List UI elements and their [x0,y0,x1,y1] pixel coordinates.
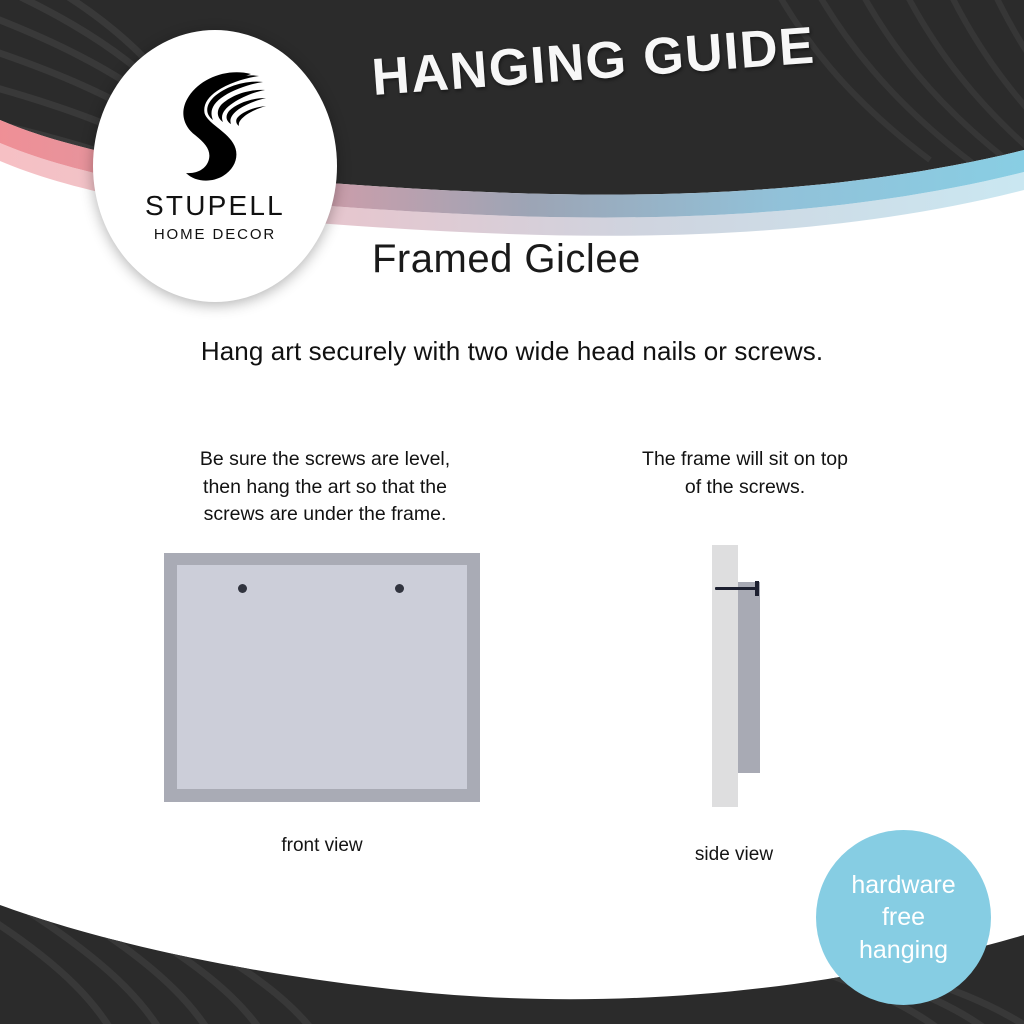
hanging-guide-page: STUPELL HOME DECOR HANGING GUIDE Framed … [0,0,1024,1024]
screw-dot-right-icon [395,584,404,593]
side-view-caption: The frame will sit on top of the screws. [600,446,890,501]
badge-line-3: hanging [859,934,948,967]
frame-profile [738,582,760,773]
side-view-caption-line-1: The frame will sit on top [600,446,890,474]
badge-line-2: free [882,901,925,934]
stupell-swan-logo-icon [155,56,275,188]
logo-brand-tagline: HOME DECOR [154,227,276,242]
side-view-label: side view [644,844,824,866]
badge-line-1: hardware [851,869,955,902]
front-view-label: front view [212,835,432,857]
nail-shaft-icon [715,587,759,590]
wall-surface [712,545,738,807]
screw-dot-left-icon [238,584,247,593]
frame-artwork-area [177,565,467,789]
front-view-caption: Be sure the screws are level, then hang … [160,446,490,529]
page-title: HANGING GUIDE [370,10,893,108]
hardware-free-hanging-badge: hardware free hanging [816,830,991,1005]
logo-brand-name: STUPELL [145,192,285,220]
side-view-caption-line-2: of the screws. [600,474,890,502]
side-view-diagram [712,545,776,807]
nail-head-icon [755,581,759,596]
main-instruction-text: Hang art securely with two wide head nai… [0,336,1024,367]
brand-logo-badge: STUPELL HOME DECOR [93,30,337,302]
front-view-diagram [164,553,480,802]
product-type-heading: Framed Giclee [372,237,641,282]
front-view-caption-line-2: then hang the art so that the [160,474,490,502]
front-view-caption-line-1: Be sure the screws are level, [160,446,490,474]
front-view-caption-line-3: screws are under the frame. [160,501,490,529]
